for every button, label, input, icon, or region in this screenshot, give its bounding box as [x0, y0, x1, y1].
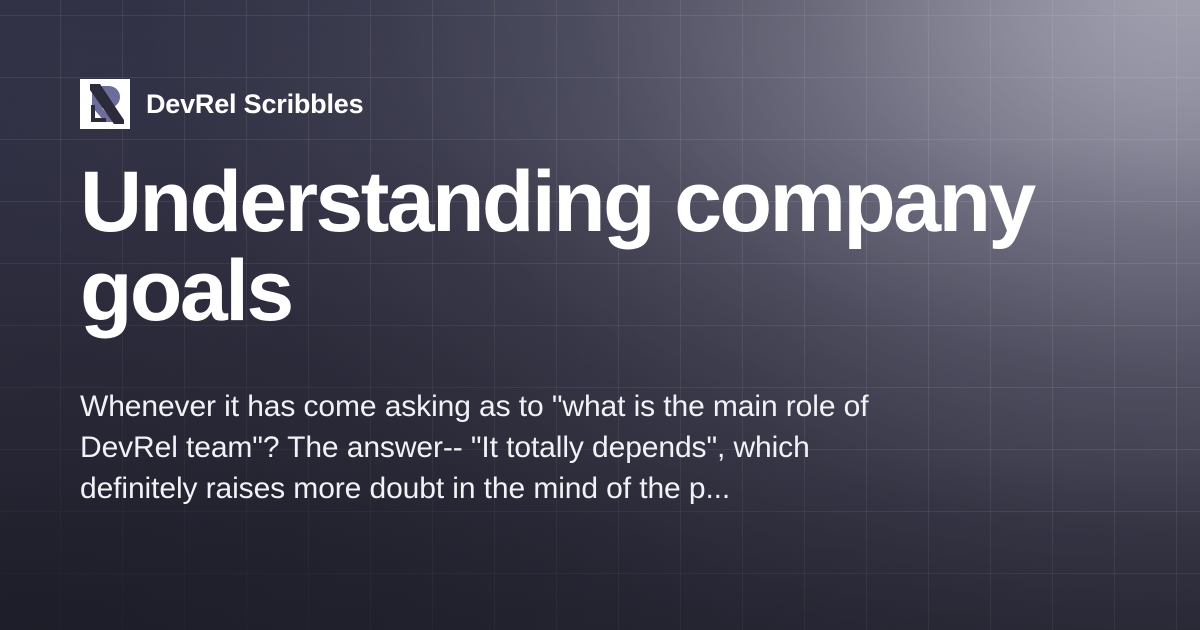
og-preview-card: DevRel Scribbles Understanding company g…	[0, 0, 1200, 630]
brand-lockup[interactable]: DevRel Scribbles	[80, 79, 363, 129]
devrel-scribbles-logo-icon	[80, 79, 130, 129]
article-excerpt: Whenever it has come asking as to "what …	[80, 386, 880, 509]
brand-name-label: DevRel Scribbles	[146, 89, 363, 120]
page-title: Understanding company goals	[80, 158, 1090, 337]
card-content: DevRel Scribbles Understanding company g…	[80, 0, 1120, 630]
